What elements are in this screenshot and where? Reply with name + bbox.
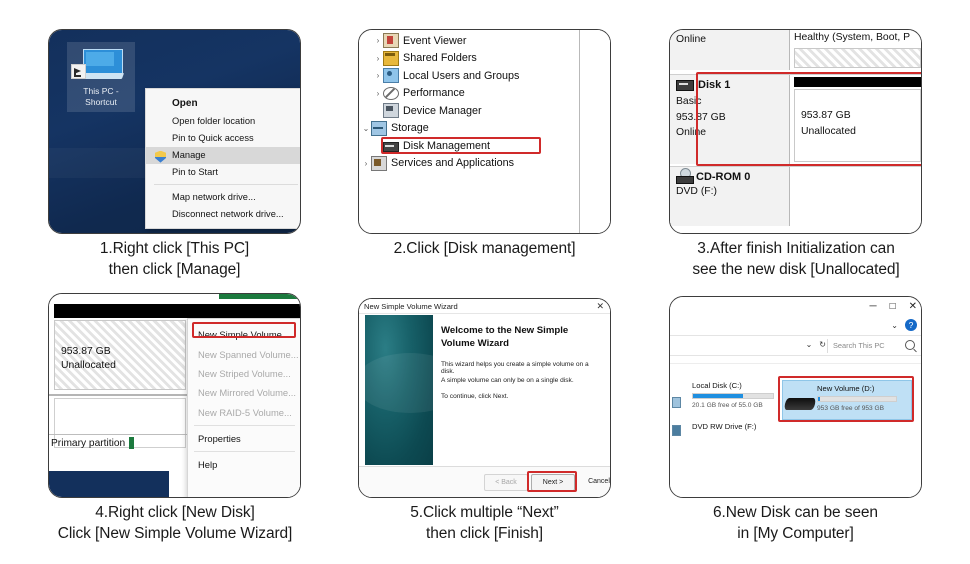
drive-name: DVD RW Drive (F:) <box>692 422 756 431</box>
chevron-down-icon[interactable]: ⌄ <box>806 340 813 349</box>
desktop-strip <box>49 471 169 498</box>
menu-item-help[interactable]: Help <box>188 455 301 474</box>
next-button-highlight-box <box>527 471 577 492</box>
refresh-icon[interactable]: ↻ <box>819 340 826 349</box>
step-2-caption: 2.Click [Disk management] <box>358 238 611 259</box>
legend-divider <box>49 434 197 435</box>
window-controls[interactable]: ─ □ ✕ <box>869 301 917 312</box>
right-pane <box>579 30 610 233</box>
maximize-icon[interactable]: □ <box>890 301 896 312</box>
chevron-right-icon[interactable]: › <box>373 54 383 63</box>
toolbar-accent <box>219 294 301 299</box>
chevron-right-icon[interactable]: › <box>361 159 371 168</box>
cdrom-info[interactable]: CD-ROM 0 DVD (F:) <box>670 167 790 226</box>
tree-item-label: Event Viewer <box>403 35 466 47</box>
step-3-screenshot: Online Healthy (System, Boot, P Disk 1 B… <box>669 29 922 234</box>
disk0-status: Online <box>676 34 783 45</box>
back-button: < Back <box>484 474 528 491</box>
step-3-caption: 3.After finish Initialization can see th… <box>660 238 932 281</box>
drive-capacity-fill <box>693 394 743 398</box>
file-explorer-window: ─ □ ✕ ⌄ ? ⌄ ↻ Search This PC Local Disk <box>670 297 921 497</box>
context-menu-item-map-network-drive[interactable]: Map network drive... <box>146 188 301 205</box>
pane-divider <box>49 394 197 396</box>
menu-separator <box>194 425 295 426</box>
search-input[interactable]: Search This PC <box>827 339 917 353</box>
cdrom-volumes <box>790 167 921 226</box>
address-bar-controls[interactable]: ⌄ ↻ <box>806 340 826 349</box>
chevron-right-icon[interactable]: › <box>373 89 383 98</box>
unallocated-header-bar <box>54 304 300 318</box>
step-5-caption: 5.Click multiple “Next” then click [Fini… <box>358 502 611 545</box>
drive-capacity-bar <box>692 393 774 399</box>
step-1-caption: 1.Right click [This PC] then click [Mana… <box>48 238 301 281</box>
close-icon[interactable]: ✕ <box>909 301 917 312</box>
this-pc-shortcut-icon[interactable]: This PC - Shortcut <box>67 42 135 112</box>
wizard-paragraph-1: This wizard helps you create a simple vo… <box>441 361 600 375</box>
new-simple-volume-wizard: New Simple Volume Wizard ✕ Welcome to th… <box>359 299 610 497</box>
menu-item-properties[interactable]: Properties <box>188 429 301 448</box>
nav-pane-dvd-icon <box>672 425 681 436</box>
wizard-title-bar: New Simple Volume Wizard ✕ <box>359 299 610 314</box>
wizard-banner-image <box>365 315 433 465</box>
help-icon[interactable]: ? <box>905 319 917 331</box>
cdrom-icon <box>676 172 692 182</box>
chevron-down-icon[interactable]: ⌄ <box>891 321 898 330</box>
cdrom-label: DVD (F:) <box>676 186 783 197</box>
unallocated-volume-block[interactable]: 953.87 GB Unallocated <box>54 320 186 390</box>
storage-icon <box>371 121 387 136</box>
tree-item-performance[interactable]: › Performance <box>359 85 610 103</box>
menu-item-new-mirrored-volume: New Mirrored Volume... <box>188 383 301 402</box>
local-users-icon <box>383 68 399 83</box>
step-1-screenshot: This PC - Shortcut Open Open folder loca… <box>48 29 301 234</box>
menu-separator <box>194 451 295 452</box>
tree-item-label: Shared Folders <box>403 52 477 64</box>
disk0-volumes[interactable]: Healthy (System, Boot, P <box>790 30 921 70</box>
step-2-screenshot: › Event Viewer › Shared Folders › Local … <box>358 29 611 234</box>
nav-pane-drive-icon <box>672 397 681 408</box>
event-viewer-icon <box>383 33 399 48</box>
context-menu-item-open-folder-location[interactable]: Open folder location <box>146 112 301 129</box>
disk-management-highlight-box <box>381 137 541 154</box>
volume-size: 953.87 GB <box>61 345 116 359</box>
ribbon-help-row[interactable]: ⌄ ? <box>891 319 917 331</box>
tree-item-shared-folders[interactable]: › Shared Folders <box>359 50 610 68</box>
disk0-volume-status: Healthy (System, Boot, P <box>790 30 921 45</box>
chevron-down-icon[interactable]: ⌄ <box>361 124 371 133</box>
drive-local-disk-c[interactable]: Local Disk (C:) 20.1 GB free of 55.0 GB <box>692 381 774 409</box>
address-bar[interactable]: ⌄ ↻ Search This PC <box>670 335 921 356</box>
step-5-screenshot: New Simple Volume Wizard ✕ Welcome to th… <box>358 298 611 498</box>
tree-item-label: Local Users and Groups <box>403 70 519 82</box>
context-menu-item-open[interactable]: Open <box>146 94 301 112</box>
unallocated-volume-text: 953.87 GB Unallocated <box>61 345 116 373</box>
search-icon[interactable] <box>905 340 915 350</box>
menu-item-new-raid5-volume: New RAID-5 Volume... <box>188 403 301 422</box>
wizard-heading: Welcome to the New Simple Volume Wizard <box>441 325 600 350</box>
steps-grid: This PC - Shortcut Open Open folder loca… <box>0 0 970 564</box>
legend-primary-partition: Primary partition <box>51 437 134 449</box>
performance-icon <box>383 87 399 100</box>
content-divider <box>670 363 921 364</box>
context-menu-separator <box>154 184 298 185</box>
wizard-paragraph-3: To continue, click Next. <box>441 393 600 400</box>
services-icon <box>371 156 387 171</box>
legend-label: Primary partition <box>51 438 125 449</box>
disk0-info[interactable]: Online <box>670 30 790 70</box>
desktop-context-menu[interactable]: Open Open folder location Pin to Quick a… <box>145 88 301 229</box>
step-6-screenshot: ─ □ ✕ ⌄ ? ⌄ ↻ Search This PC Local Disk <box>669 296 922 498</box>
disk0-volume-bar <box>794 48 921 68</box>
tree-item-label: Services and Applications <box>391 157 514 169</box>
windows-desktop: This PC - Shortcut Open Open folder loca… <box>49 30 300 233</box>
new-volume-highlight-box <box>778 376 914 422</box>
context-menu-item-manage-label: Manage <box>172 150 206 160</box>
tree-item-label: Device Manager <box>403 105 482 117</box>
device-manager-icon <box>383 103 399 118</box>
disk-icon <box>676 80 694 91</box>
close-icon[interactable]: ✕ <box>596 301 604 312</box>
chevron-right-icon[interactable]: › <box>373 36 383 45</box>
volume-state: Unallocated <box>61 359 116 373</box>
cdrom-title: CD-ROM 0 <box>676 171 783 183</box>
cdrom-name: CD-ROM 0 <box>696 171 750 183</box>
step-4-screenshot: 953.87 GB Unallocated Primary partition … <box>48 293 301 498</box>
tree-item-device-manager[interactable]: Device Manager <box>359 102 610 120</box>
new-simple-volume-highlight-box <box>192 322 296 338</box>
legend-swatch-icon <box>129 437 134 449</box>
context-menu-item-manage[interactable]: Manage <box>146 147 301 164</box>
disk-management-pane-2: 953.87 GB Unallocated Primary partition … <box>49 294 300 497</box>
step-6-caption: 6.New Disk can be seen in [My Computer] <box>669 502 922 545</box>
disk-management-pane: Online Healthy (System, Boot, P Disk 1 B… <box>670 30 921 233</box>
tree-item-label: Storage <box>391 122 429 134</box>
minimize-icon[interactable]: ─ <box>869 301 876 312</box>
context-menu-item-disconnect-network-drive[interactable]: Disconnect network drive... <box>146 205 301 222</box>
drive-dvd-rw-f[interactable]: DVD RW Drive (F:) <box>692 422 756 431</box>
computer-management-tree[interactable]: › Event Viewer › Shared Folders › Local … <box>359 30 610 233</box>
menu-item-new-striped-volume: New Striped Volume... <box>188 364 301 383</box>
chevron-right-icon[interactable]: › <box>373 71 383 80</box>
disk-context-menu[interactable]: New Simple Volume... New Spanned Volume.… <box>187 318 301 498</box>
tree-item-label: Performance <box>403 87 465 99</box>
tree-item-event-viewer[interactable]: › Event Viewer <box>359 32 610 50</box>
wizard-paragraph-2: A simple volume can only be on a single … <box>441 377 600 384</box>
cancel-button[interactable]: Cancel <box>578 474 611 489</box>
this-pc-label: This PC - Shortcut <box>65 86 137 107</box>
shortcut-arrow-icon <box>71 64 86 79</box>
step-4-caption: 4.Right click [New Disk] Click [New Simp… <box>25 502 325 545</box>
shared-folders-icon <box>383 51 399 66</box>
drive-name: Local Disk (C:) <box>692 381 774 390</box>
menu-item-new-spanned-volume: New Spanned Volume... <box>188 344 301 363</box>
tree-item-local-users-and-groups[interactable]: › Local Users and Groups <box>359 67 610 85</box>
wizard-title: New Simple Volume Wizard <box>364 302 458 311</box>
tree-item-services-and-applications[interactable]: › Services and Applications <box>359 155 610 173</box>
disk1-highlight-box <box>696 72 922 166</box>
shield-icon <box>155 151 166 163</box>
drive-free-space: 20.1 GB free of 55.0 GB <box>692 402 774 409</box>
context-menu-item-pin-to-quick-access[interactable]: Pin to Quick access <box>146 129 301 146</box>
tree-item-storage[interactable]: ⌄ Storage <box>359 120 610 138</box>
context-menu-item-pin-to-start[interactable]: Pin to Start <box>146 164 301 181</box>
